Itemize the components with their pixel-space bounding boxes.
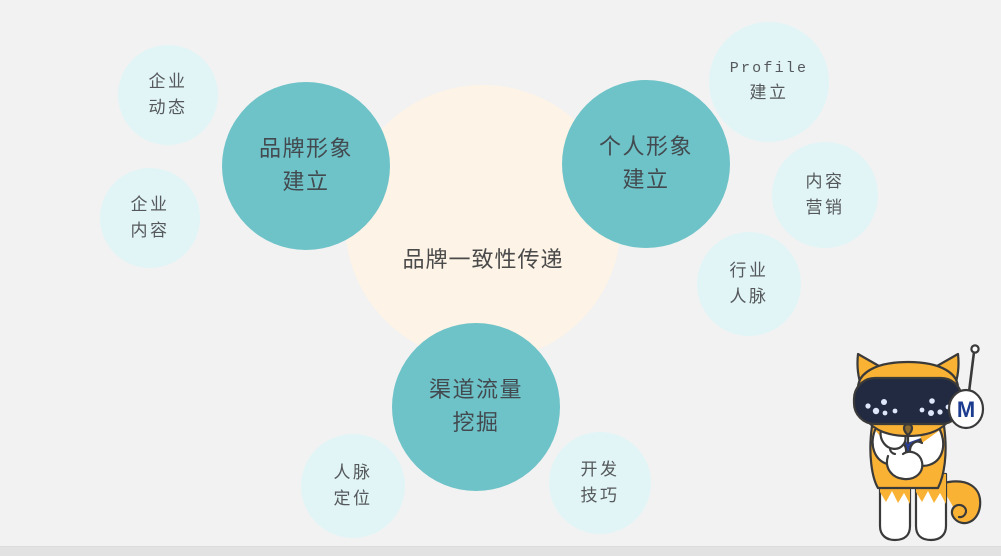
cat-nose <box>904 424 912 435</box>
sub-bubble-line1: 行业 <box>730 258 769 284</box>
sub-bubble-line1: 企业 <box>149 69 188 95</box>
main-bubble-line1: 个人形象 <box>599 131 693 164</box>
main-bubble-line2: 建立 <box>622 164 669 197</box>
cat-antenna-tip <box>971 345 978 352</box>
sub-bubble-line2: 内容 <box>131 218 170 244</box>
sub-bubble-line1: 开发 <box>581 457 620 483</box>
cat-right-paw <box>887 452 922 479</box>
cat-vr-visor <box>854 378 962 424</box>
core-bubble-label: 品牌一致性传递 <box>402 242 563 274</box>
sub-bubble-enterprise-news[interactable]: 企业 动态 <box>118 45 218 145</box>
sub-bubble-line2: 技巧 <box>581 483 620 509</box>
sub-bubble-line2: 营销 <box>806 195 845 221</box>
sub-bubble-development-skills[interactable]: 开发 技巧 <box>549 432 651 534</box>
sub-bubble-line1: 人脉 <box>334 460 373 486</box>
sub-bubble-content-marketing[interactable]: 内容 营销 <box>772 142 878 248</box>
sub-bubble-line2: 动态 <box>149 95 188 121</box>
sub-bubble-industry-network[interactable]: 行业 人脉 <box>697 232 801 336</box>
page-bottom-strip <box>0 547 1001 556</box>
sub-bubble-enterprise-content[interactable]: 企业 内容 <box>100 168 200 268</box>
sub-bubble-line2: 建立 <box>750 80 789 106</box>
sub-bubble-line2: 定位 <box>334 486 373 512</box>
sub-bubble-profile-setup[interactable]: Profile 建立 <box>709 22 829 142</box>
main-bubble-line1: 品牌形象 <box>259 133 353 166</box>
diagram-canvas: 品牌一致性传递 企业 动态 企业 内容 Profile 建立 内容 营销 行业 … <box>0 0 1001 556</box>
sub-bubble-line2: 人脉 <box>730 284 769 310</box>
main-bubble-personal-image[interactable]: 个人形象 建立 <box>562 80 730 248</box>
main-bubble-line1: 渠道流量 <box>429 374 523 407</box>
main-bubble-channel-traffic[interactable]: 渠道流量 挖掘 <box>392 323 560 491</box>
cat-mascot: M <box>828 334 998 546</box>
sub-bubble-line1: 企业 <box>131 192 170 218</box>
sub-bubble-line1: 内容 <box>806 169 845 195</box>
sub-bubble-network-positioning[interactable]: 人脉 定位 <box>301 434 405 538</box>
main-bubble-line2: 挖掘 <box>452 407 499 440</box>
main-bubble-line2: 建立 <box>282 166 329 199</box>
sub-bubble-line1: Profile <box>730 57 808 80</box>
cat-badge-letter: M <box>957 397 975 422</box>
main-bubble-brand-image[interactable]: 品牌形象 建立 <box>222 82 390 250</box>
